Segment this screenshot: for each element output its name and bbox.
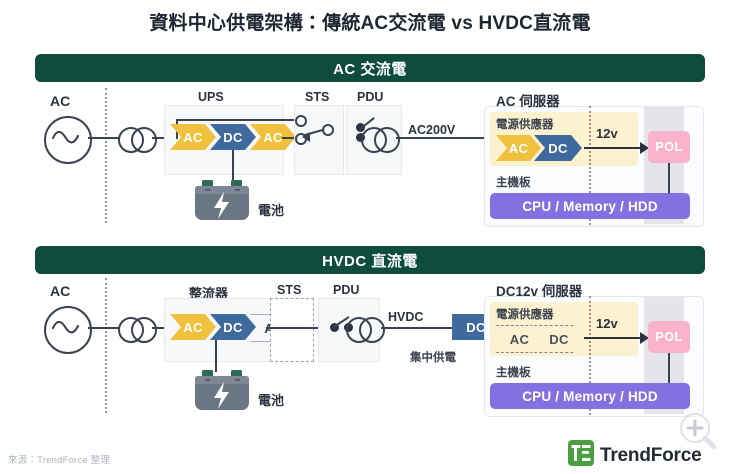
wire-through-sts-hvdc [266, 327, 324, 329]
battery-icon-ac [192, 178, 244, 218]
psu-chevron-ac-label-hvdc: AC [510, 332, 529, 347]
battery-icon-hvdc [192, 368, 244, 408]
diagram-canvas: 資料中心供電架構：傳統AC交流電 vs HVDC直流電 AC 交流電 AC UP… [0, 0, 740, 474]
transformer-hvdc-input [118, 317, 156, 339]
trendforce-mark-icon [568, 440, 594, 471]
ups-label: UPS [198, 90, 224, 104]
psu-chevron-dc-label-hvdc: DC [549, 332, 568, 347]
sts-contact-top-ac [295, 115, 307, 127]
cpu-bar-hvdc: CPU / Memory / HDD [490, 383, 690, 409]
server-title-ac: AC 伺服器 [496, 90, 560, 110]
rail-label-12v-hvdc: 12v [596, 316, 618, 331]
section-header-ac: AC 交流電 [35, 54, 705, 82]
ac-source-label: AC [50, 93, 70, 109]
battery-label-hvdc: 電池 [258, 390, 284, 409]
psu-label-ac: 電源供應器 [496, 116, 554, 132]
wire-ups-bypass [176, 119, 282, 121]
pdu-label-hvdc: PDU [333, 283, 359, 297]
ac-generator-symbol [44, 116, 92, 164]
cpu-bar-label-hvdc: CPU / Memory / HDD [522, 389, 658, 404]
cpu-bar-label-ac: CPU / Memory / HDD [522, 199, 658, 214]
hvdc-source-label: AC [50, 283, 70, 299]
section-header-ac-label: AC 交流電 [333, 58, 407, 79]
transformer-pdu-hvdc [346, 317, 384, 339]
hvdc-bus-label: HVDC [388, 310, 423, 324]
sts-arrow-ac [302, 132, 310, 142]
hvdc-generator-symbol [44, 306, 92, 354]
wire-hvdc-bus [381, 327, 455, 329]
ac200v-label: AC200V [408, 123, 455, 137]
divider-dotted-ac [105, 88, 107, 223]
page-title: 資料中心供電架構：傳統AC交流電 vs HVDC直流電 [0, 8, 740, 35]
rectifier-chevron-dc-label: DC [223, 320, 242, 335]
pol-label-ac: POL [655, 140, 682, 154]
psu-chevron-dc-label-ac: DC [548, 141, 567, 156]
ups-chevron-ac-out-label: AC [263, 130, 282, 145]
trendforce-logo[interactable]: TrendForce [568, 440, 701, 471]
wire-12v-hvdc [584, 337, 642, 339]
psu-label-hvdc: 電源供應器 [496, 306, 554, 322]
wire-12v-ac [584, 147, 642, 149]
dc-block-label: DC [466, 320, 485, 335]
ups-chevron-dc-label: DC [223, 130, 242, 145]
sts-label-hvdc: STS [277, 283, 301, 297]
motherboard-label-ac: 主機板 [496, 174, 531, 190]
wire-gen-to-xfmr-ac [88, 137, 120, 139]
psu-chevron-ac-label-ac: AC [509, 141, 528, 156]
cpu-bar-ac: CPU / Memory / HDD [490, 193, 690, 219]
battery-label-ac: 電池 [258, 200, 284, 219]
sts-label-ac: STS [305, 90, 329, 104]
rectifier-chevron-ac-in-label: AC [183, 320, 202, 335]
pdu-label-ac: PDU [357, 90, 383, 104]
server-title-hvdc: DC12v 伺服器 [496, 280, 582, 300]
sts-panel-hvdc-bypassed [270, 298, 314, 362]
pol-box-hvdc: POL [648, 321, 690, 353]
source-note: 來源：TrendForce 整理 [8, 452, 110, 466]
pol-box-ac: POL [648, 131, 690, 163]
section-header-hvdc: HVDC 直流電 [35, 246, 705, 274]
wire-pol-to-cpu-hvdc [668, 353, 670, 387]
wire-pol-to-cpu-ac [668, 163, 670, 197]
dc-block-caption: 集中供電 [410, 349, 456, 365]
section-header-hvdc-label: HVDC 直流電 [322, 250, 418, 271]
trendforce-wordmark: TrendForce [600, 445, 701, 467]
pol-label-hvdc: POL [655, 330, 682, 344]
wire-gen-to-xfmr-hvdc [88, 327, 120, 329]
transformer-pdu-ac [361, 127, 399, 149]
motherboard-label-hvdc: 主機板 [496, 364, 531, 380]
divider-dotted-hvdc [105, 278, 107, 413]
ups-chevron-ac-in-label: AC [183, 130, 202, 145]
rail-label-12v-ac: 12v [596, 126, 618, 141]
transformer-ac-input [118, 127, 156, 149]
